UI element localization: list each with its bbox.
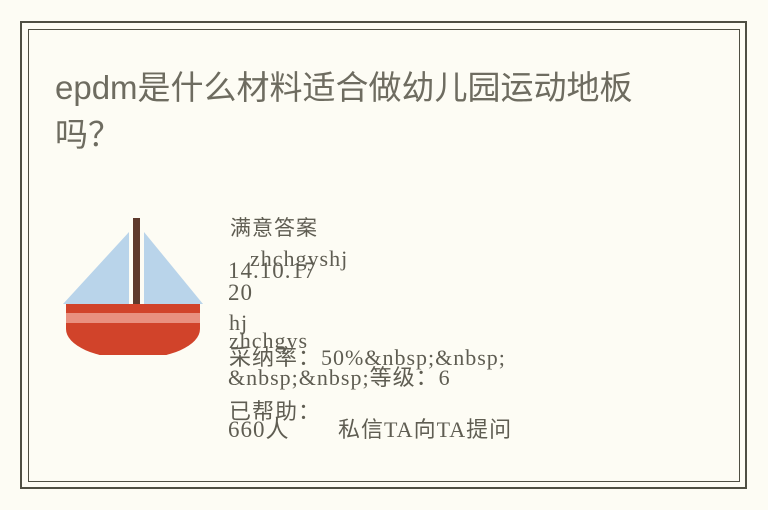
page-title: epdm是什么材料适合做幼儿园运动地板吗？ <box>55 64 675 158</box>
boat-sail-right <box>144 232 203 304</box>
boat-hull-top <box>66 304 200 313</box>
user-level-text: &nbsp;&nbsp;等级：6 <box>228 360 451 392</box>
satisfactory-answer-label: 满意答案 <box>230 212 318 242</box>
answer-date-part2: 20 <box>228 280 253 306</box>
boat-mast <box>133 218 140 311</box>
boat-hull-body <box>66 323 200 355</box>
boat-hull-stripe <box>66 313 200 323</box>
question-card-page: epdm是什么材料适合做幼儿园运动地板吗？ 满意答案 zhchgyshj 14.… <box>0 0 768 510</box>
ask-author-link[interactable]: 私信TA向TA提问 <box>338 412 512 444</box>
helped-count-value: 660人 <box>228 410 290 444</box>
sailboat-icon <box>63 205 213 355</box>
boat-sail-left <box>63 232 129 304</box>
